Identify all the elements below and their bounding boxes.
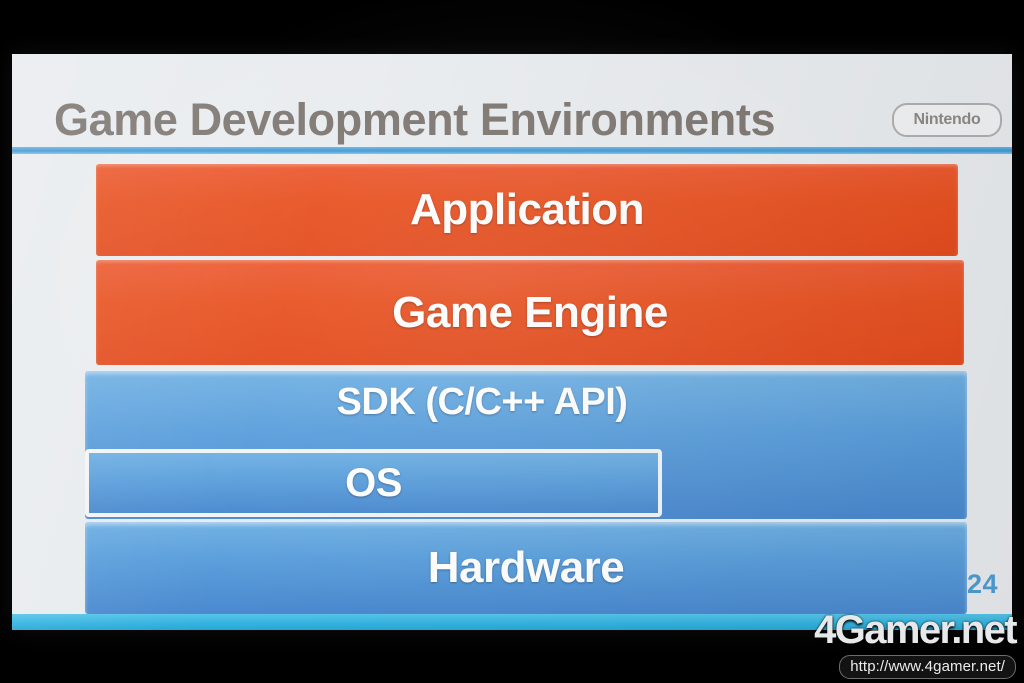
photographed-slide-frame: Game Development Environments Nintendo A… <box>0 0 1024 683</box>
stack-layer-label: SDK (C/C++ API) <box>337 381 628 424</box>
stack-layer-application: Application <box>96 164 958 256</box>
stack-layer-label: Application <box>410 185 644 235</box>
title-divider <box>12 147 1012 154</box>
watermark: 4Gamer.net http://www.4gamer.net/ <box>814 610 1016 679</box>
page-title: Game Development Environments <box>54 92 775 148</box>
slide-number: 24 <box>967 569 998 600</box>
stack-layer-game-engine: Game Engine <box>96 260 964 365</box>
presentation-slide: Game Development Environments Nintendo A… <box>12 54 1012 630</box>
nintendo-logo: Nintendo <box>892 103 1002 137</box>
stack-layer-label: OS <box>345 461 402 506</box>
stack-layer-os: OS <box>85 449 662 517</box>
nintendo-logo-label: Nintendo <box>914 112 981 128</box>
stack-layer-label: Game Engine <box>392 288 668 338</box>
watermark-url: http://www.4gamer.net/ <box>839 655 1016 679</box>
stack-layer-hardware: Hardware <box>85 522 967 614</box>
stack-layer-label: Hardware <box>428 543 625 593</box>
watermark-logo: 4Gamer.net <box>814 610 1016 650</box>
